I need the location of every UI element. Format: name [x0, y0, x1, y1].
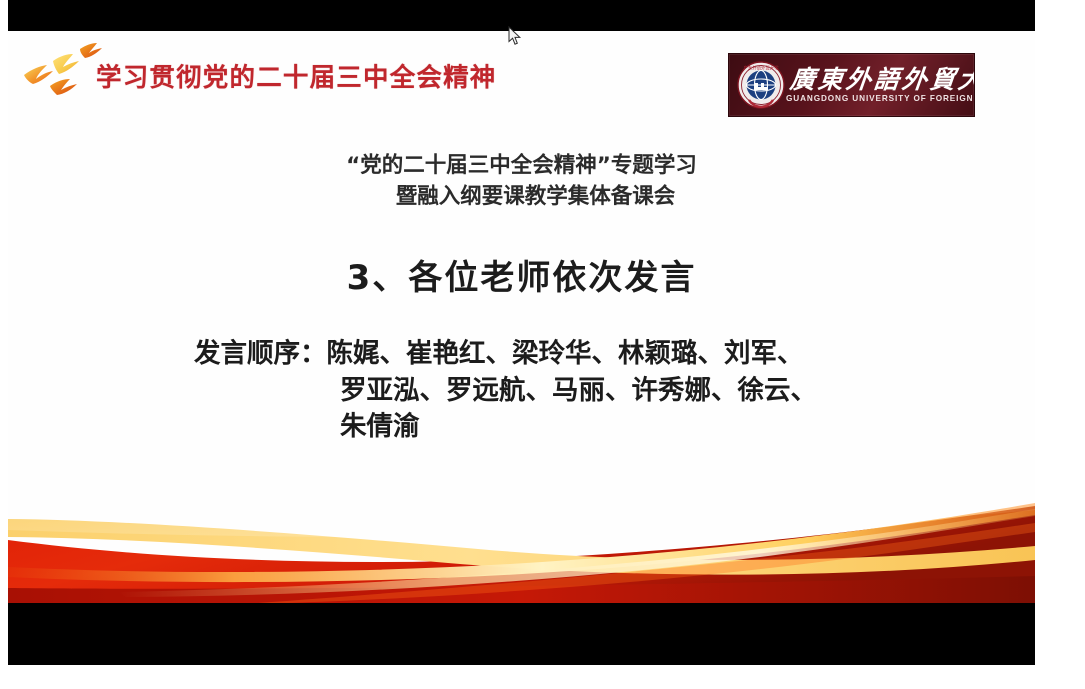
- globe-shield-emblem-icon: 广东外语外贸大学: [736, 60, 786, 110]
- university-logo-plate: 广东外语外贸大学 廣東外語外貿大學 GUANGDONG UNIVERSITY O…: [728, 53, 975, 117]
- letterbox-bottom: [8, 603, 1035, 665]
- svg-text:广东外语外贸大学: 广东外语外贸大学: [743, 65, 779, 72]
- slide-subtitle-line-1: “党的二十届三中全会精神”专题学习: [8, 150, 1035, 181]
- presentation-viewer: 学习贯彻党的二十届三中全会精神 广: [0, 0, 1085, 689]
- speaker-order-line-2: 罗亚泓、罗远航、马丽、许秀娜、徐云、: [194, 373, 894, 410]
- slide-subtitle: “党的二十届三中全会精神”专题学习 暨融入纲要课教学集体备课会: [8, 150, 1035, 212]
- slide-canvas: 学习贯彻党的二十届三中全会精神 广: [8, 31, 1035, 603]
- speaker-order-block: 发言顺序：陈娓、崔艳红、梁玲华、林颖璐、刘军、 罗亚泓、罗远航、马丽、许秀娜、徐…: [194, 336, 894, 446]
- university-name-cn: 廣東外語外貿大學: [789, 67, 975, 93]
- slide-main-heading: 3、各位老师依次发言: [8, 250, 1035, 299]
- speaker-order-line-1: 发言顺序：陈娓、崔艳红、梁玲华、林颖璐、刘军、: [194, 336, 894, 373]
- letterbox-top: [8, 0, 1035, 31]
- slide-header: 学习贯彻党的二十届三中全会精神 广: [8, 31, 1035, 141]
- university-name-en: GUANGDONG UNIVERSITY OF FOREIGN STUDIES: [786, 94, 975, 103]
- speaker-order-line-3: 朱倩渝: [194, 409, 894, 446]
- slide-stage: 学习贯彻党的二十届三中全会精神 广: [8, 0, 1035, 665]
- slide-subtitle-line-2: 暨融入纲要课教学集体备课会: [8, 181, 1035, 212]
- red-gold-wave-ribbon-icon: [8, 468, 1035, 603]
- header-banner-title: 学习贯彻党的二十届三中全会精神: [96, 57, 497, 94]
- university-logo-text: 廣東外語外貿大學 GUANGDONG UNIVERSITY OF FOREIGN…: [786, 67, 975, 103]
